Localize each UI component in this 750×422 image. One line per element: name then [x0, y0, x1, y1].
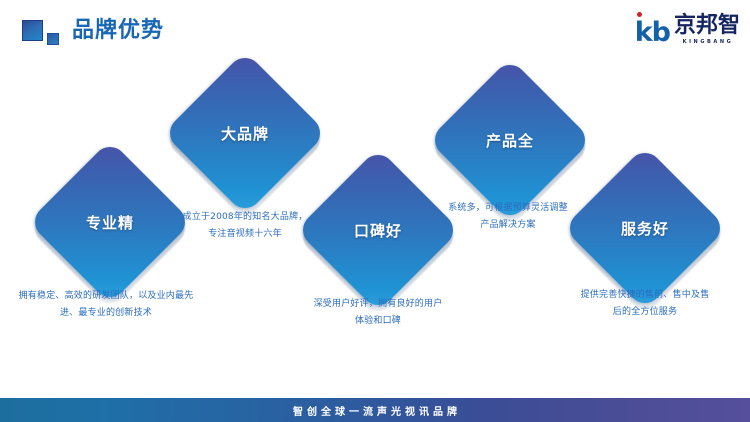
- diamond-label-3: 口碑好: [320, 172, 436, 288]
- feature-diamond-1[interactable]: 专业精: [52, 164, 168, 280]
- slide-canvas: 品牌优势 kb 京邦智 KINGBANG 专业精 拥有稳定、高效的研发团队，以及…: [0, 0, 750, 422]
- footer-slogan: 智创全球一流声光视讯品牌: [289, 403, 461, 418]
- logo-name-en: KINGBANG: [681, 38, 734, 46]
- logo-name-block: 京邦智 KINGBANG: [674, 15, 740, 46]
- logo-name-cn: 京邦智: [674, 15, 740, 37]
- decorative-square-large: [22, 20, 43, 41]
- page-title: 品牌优势: [72, 17, 164, 45]
- feature-diamond-5[interactable]: 服务好: [587, 170, 703, 286]
- diamond-label-4: 产品全: [452, 82, 568, 198]
- slide-footer: 智创全球一流声光视讯品牌: [0, 398, 750, 422]
- brand-logo: kb 京邦智 KINGBANG: [635, 14, 740, 46]
- diamond-label-2: 大品牌: [187, 75, 303, 191]
- feature-diamond-4[interactable]: 产品全: [452, 82, 568, 198]
- feature-caption-5: 提供完善快捷的售前、售中及售后的全方位服务: [578, 287, 712, 321]
- feature-caption-3: 深受用户好评，拥有良好的用户体验和口碑: [312, 296, 444, 330]
- slide-header: 品牌优势 kb 京邦智 KINGBANG: [0, 0, 750, 60]
- feature-caption-2: 成立于2008年的知名大品牌，专注音视频十六年: [182, 209, 308, 243]
- diamond-label-1: 专业精: [52, 164, 168, 280]
- feature-caption-4: 系统多，可根据预算灵活调整产品解决方案: [446, 200, 570, 234]
- diamond-label-5: 服务好: [587, 170, 703, 286]
- feature-diamond-3[interactable]: 口碑好: [320, 172, 436, 288]
- feature-caption-1: 拥有稳定、高效的研发团队，以及业内最先进、最专业的创新技术: [18, 288, 194, 322]
- decorative-square-small: [47, 33, 59, 45]
- feature-diamond-2[interactable]: 大品牌: [187, 75, 303, 191]
- logo-mark-kb: kb: [635, 19, 670, 46]
- logo-red-dot-icon: [637, 12, 642, 17]
